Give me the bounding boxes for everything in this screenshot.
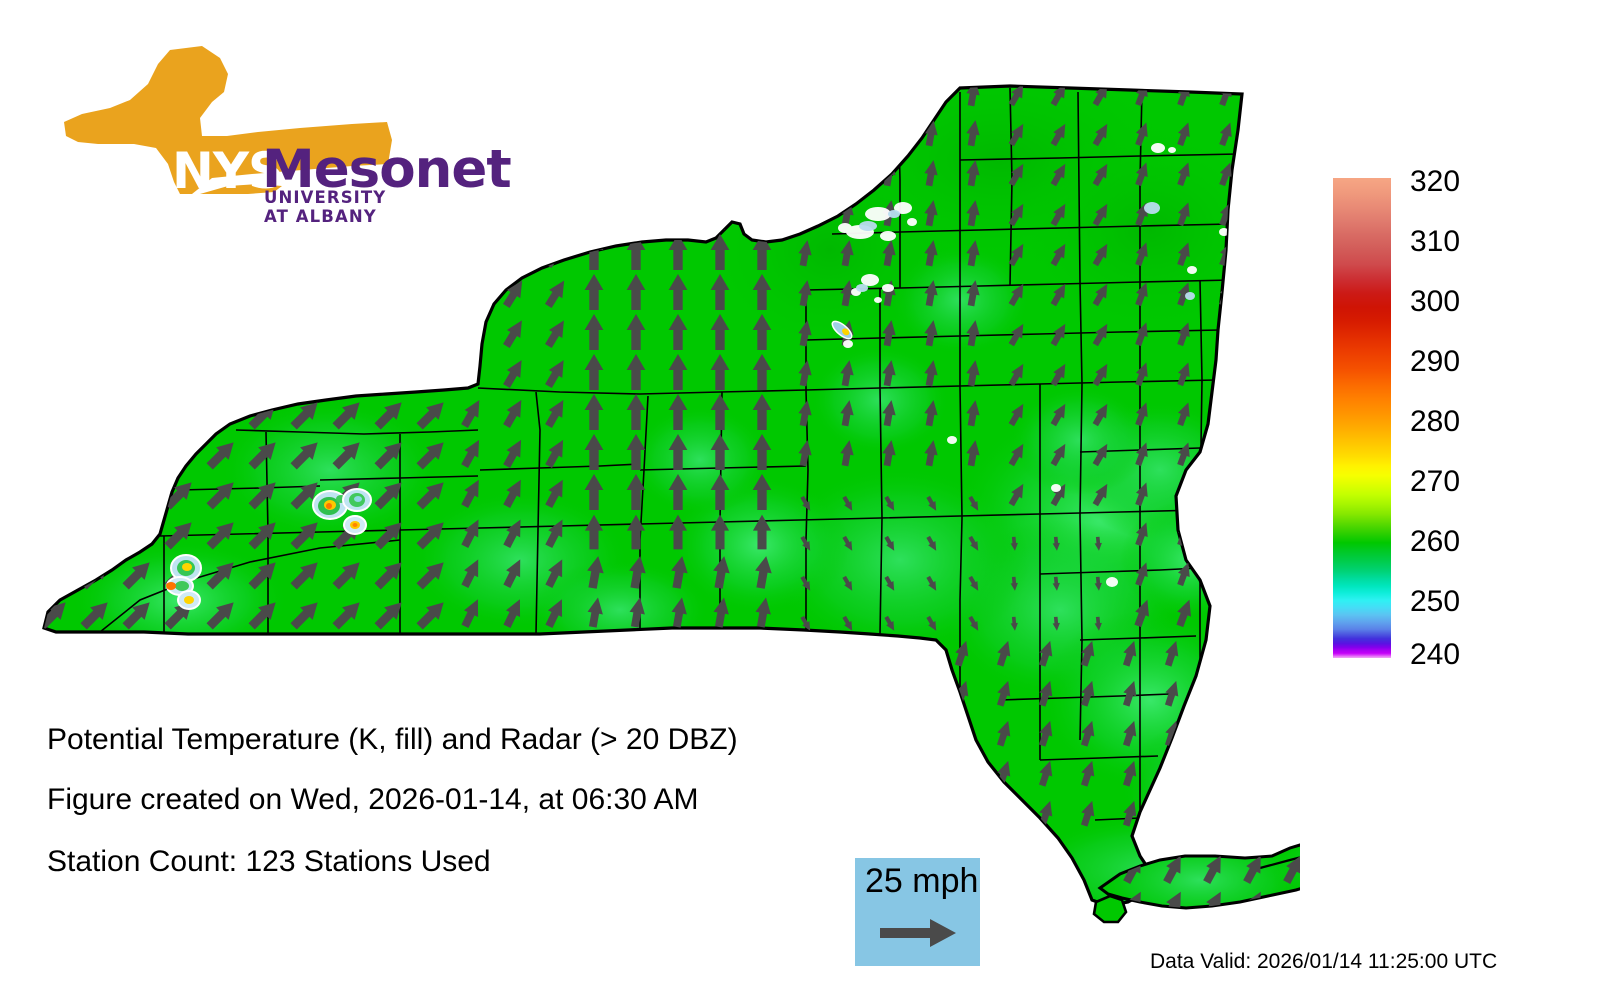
wind-arrow bbox=[413, 236, 450, 273]
wind-arrow bbox=[35, 476, 72, 513]
wind-arrow bbox=[329, 356, 366, 393]
wind-arrow bbox=[287, 316, 324, 353]
wind-arrow bbox=[245, 356, 282, 393]
wind-arrow bbox=[245, 76, 282, 113]
wind-arrow bbox=[1216, 400, 1236, 427]
wind-arrow bbox=[371, 76, 408, 113]
wind-arrow bbox=[753, 194, 772, 230]
wind-arrow bbox=[119, 396, 156, 433]
wind-arrow bbox=[796, 79, 814, 107]
wind-arrow bbox=[711, 114, 730, 150]
wind-arrow bbox=[287, 236, 324, 273]
wind-arrow bbox=[77, 156, 114, 193]
wind-arrow bbox=[753, 74, 772, 110]
wind-scale-legend: 25 mph bbox=[855, 858, 980, 966]
wind-arrow bbox=[77, 76, 114, 113]
wind-arrow bbox=[542, 77, 572, 110]
wind-arrow bbox=[119, 276, 156, 313]
colorbar-gradient bbox=[1333, 178, 1391, 658]
wind-arrow bbox=[880, 79, 898, 107]
wind-arrow bbox=[77, 316, 114, 353]
wind-arrow bbox=[413, 316, 450, 353]
wind-arrow bbox=[458, 77, 488, 110]
wind-arrow bbox=[922, 79, 940, 107]
logo-university-text: UNIVERSITY AT ALBANY bbox=[264, 188, 412, 226]
wind-arrow bbox=[838, 79, 856, 107]
wind-arrow bbox=[35, 516, 72, 553]
wind-arrow bbox=[1200, 816, 1228, 850]
colorbar-tick-310: 310 bbox=[1410, 227, 1460, 257]
wind-arrow bbox=[245, 236, 282, 273]
figure-title: Potential Temperature (K, fill) and Rada… bbox=[47, 723, 738, 757]
wind-arrow bbox=[119, 436, 156, 473]
colorbar bbox=[1333, 178, 1391, 658]
wind-arrow bbox=[287, 276, 324, 313]
wind-arrow bbox=[413, 276, 450, 313]
wind-arrow bbox=[245, 276, 282, 313]
wind-arrow bbox=[1204, 639, 1225, 668]
wind-arrow bbox=[627, 154, 646, 190]
wind-arrow bbox=[287, 356, 324, 393]
wind-arrow bbox=[35, 316, 72, 353]
wind-arrow bbox=[35, 76, 72, 113]
wind-arrow bbox=[77, 356, 114, 393]
wind-arrow bbox=[627, 114, 646, 150]
wind-arrow bbox=[880, 119, 898, 147]
wind-arrow bbox=[119, 156, 156, 193]
wind-arrow bbox=[203, 76, 240, 113]
wind-arrow bbox=[500, 77, 530, 110]
data-valid-text: Data Valid: 2026/01/14 11:25:00 UTC bbox=[1150, 950, 1497, 974]
wind-arrow bbox=[203, 276, 240, 313]
wind-arrow bbox=[753, 154, 772, 190]
wind-arrow bbox=[35, 236, 72, 273]
wind-arrow bbox=[77, 436, 114, 473]
wind-arrow bbox=[838, 119, 856, 147]
wind-arrow bbox=[329, 276, 366, 313]
wind-arrow bbox=[119, 476, 156, 513]
wind-arrow bbox=[753, 114, 772, 150]
wind-arrow bbox=[1215, 597, 1238, 628]
wind-arrow bbox=[35, 116, 72, 153]
wind-arrow bbox=[161, 396, 198, 433]
wind-arrow bbox=[952, 799, 973, 828]
wind-arrow bbox=[77, 396, 114, 433]
wind-arrow bbox=[161, 276, 198, 313]
wind-arrow bbox=[994, 799, 1015, 828]
wind-arrow bbox=[458, 236, 487, 270]
wind-arrow bbox=[35, 396, 72, 433]
wind-arrow bbox=[119, 196, 156, 233]
wind-arrow bbox=[627, 194, 646, 230]
wind-scale-label: 25 mph bbox=[865, 862, 978, 901]
wind-arrow bbox=[329, 76, 366, 113]
wind-arrow bbox=[796, 159, 814, 187]
station-count-text: Station Count: 123 Stations Used bbox=[47, 845, 491, 879]
wind-arrow bbox=[542, 117, 572, 151]
figure-created-text: Figure created on Wed, 2026-01-14, at 06… bbox=[47, 783, 699, 817]
wind-arrow bbox=[542, 197, 572, 231]
wind-arrow bbox=[796, 199, 814, 227]
wind-arrow bbox=[1216, 520, 1236, 547]
wind-arrow bbox=[669, 194, 688, 230]
colorbar-tick-240: 240 bbox=[1410, 640, 1460, 670]
wind-arrow bbox=[1216, 440, 1236, 467]
colorbar-tick-300: 300 bbox=[1410, 287, 1460, 317]
wind-arrow bbox=[1204, 679, 1225, 708]
wind-arrow bbox=[1162, 799, 1183, 828]
wind-arrow bbox=[119, 116, 156, 153]
wind-arrow bbox=[35, 436, 72, 473]
wind-arrow bbox=[77, 476, 114, 513]
colorbar-tick-260: 260 bbox=[1410, 527, 1460, 557]
wind-arrow bbox=[711, 194, 730, 230]
wind-arrow bbox=[1240, 816, 1268, 850]
wind-arrow bbox=[413, 196, 450, 233]
wind-arrow bbox=[371, 276, 408, 313]
wind-arrow bbox=[161, 196, 198, 233]
wind-arrow bbox=[119, 236, 156, 273]
wind-arrow bbox=[371, 316, 408, 353]
wind-arrow bbox=[287, 76, 324, 113]
wind-arrow bbox=[161, 316, 198, 353]
wind-arrow bbox=[35, 356, 72, 393]
wind-scale-arrow-icon bbox=[880, 916, 958, 955]
wind-arrow bbox=[458, 197, 488, 231]
wind-arrow bbox=[119, 316, 156, 353]
wind-arrow bbox=[542, 157, 572, 191]
wind-arrow bbox=[371, 236, 408, 273]
wind-arrow bbox=[161, 76, 198, 113]
weather-map-figure: NYS Mesonet UNIVERSITY AT ALBANY bbox=[0, 0, 1600, 1000]
wind-arrow bbox=[796, 119, 814, 147]
wind-arrow bbox=[627, 74, 646, 110]
wind-arrow bbox=[371, 356, 408, 393]
colorbar-tick-290: 290 bbox=[1410, 347, 1460, 377]
wind-arrow bbox=[77, 276, 114, 313]
wind-arrow bbox=[161, 356, 198, 393]
wind-arrow bbox=[245, 316, 282, 353]
wind-arrow bbox=[1216, 560, 1236, 587]
wind-arrow bbox=[77, 116, 114, 153]
wind-arrow bbox=[1204, 799, 1225, 828]
wind-arrow bbox=[1162, 759, 1183, 788]
wind-arrow bbox=[838, 159, 856, 187]
wind-arrow bbox=[1216, 360, 1236, 387]
wind-arrow bbox=[952, 759, 973, 788]
wind-arrow bbox=[1160, 816, 1188, 850]
wind-arrow bbox=[77, 196, 114, 233]
wind-arrow bbox=[1204, 719, 1225, 748]
wind-arrow bbox=[711, 74, 730, 110]
wind-arrow bbox=[119, 356, 156, 393]
wind-arrow bbox=[413, 356, 450, 393]
wind-arrow bbox=[669, 74, 688, 110]
wind-arrow bbox=[669, 154, 688, 190]
wind-arrow bbox=[35, 556, 72, 593]
wind-arrow bbox=[35, 156, 72, 193]
wind-arrow bbox=[203, 236, 240, 273]
colorbar-tick-280: 280 bbox=[1410, 407, 1460, 437]
wind-arrow bbox=[500, 197, 530, 231]
wind-arrow bbox=[458, 276, 487, 310]
wind-arrow bbox=[203, 316, 240, 353]
wind-arrow bbox=[329, 316, 366, 353]
wind-arrow bbox=[77, 516, 114, 553]
wind-arrow bbox=[119, 76, 156, 113]
wind-arrow bbox=[161, 236, 198, 273]
colorbar-tick-320: 320 bbox=[1410, 167, 1460, 197]
wind-arrow bbox=[500, 236, 529, 270]
wind-arrow bbox=[35, 276, 72, 313]
wind-arrow bbox=[585, 154, 604, 190]
wind-arrow bbox=[585, 194, 604, 230]
wind-arrow bbox=[329, 236, 366, 273]
wind-arrow bbox=[203, 196, 240, 233]
wind-arrow bbox=[203, 356, 240, 393]
wind-arrow bbox=[1216, 480, 1236, 507]
wind-arrow bbox=[1204, 759, 1225, 788]
colorbar-tick-270: 270 bbox=[1410, 467, 1460, 497]
colorbar-tick-250: 250 bbox=[1410, 587, 1460, 617]
wind-arrow bbox=[669, 114, 688, 150]
wind-arrow bbox=[585, 74, 604, 110]
wind-arrow bbox=[711, 154, 730, 190]
wind-arrow bbox=[585, 114, 604, 150]
wind-arrow bbox=[413, 76, 450, 113]
wind-arrow bbox=[77, 236, 114, 273]
wind-arrow bbox=[35, 196, 72, 233]
